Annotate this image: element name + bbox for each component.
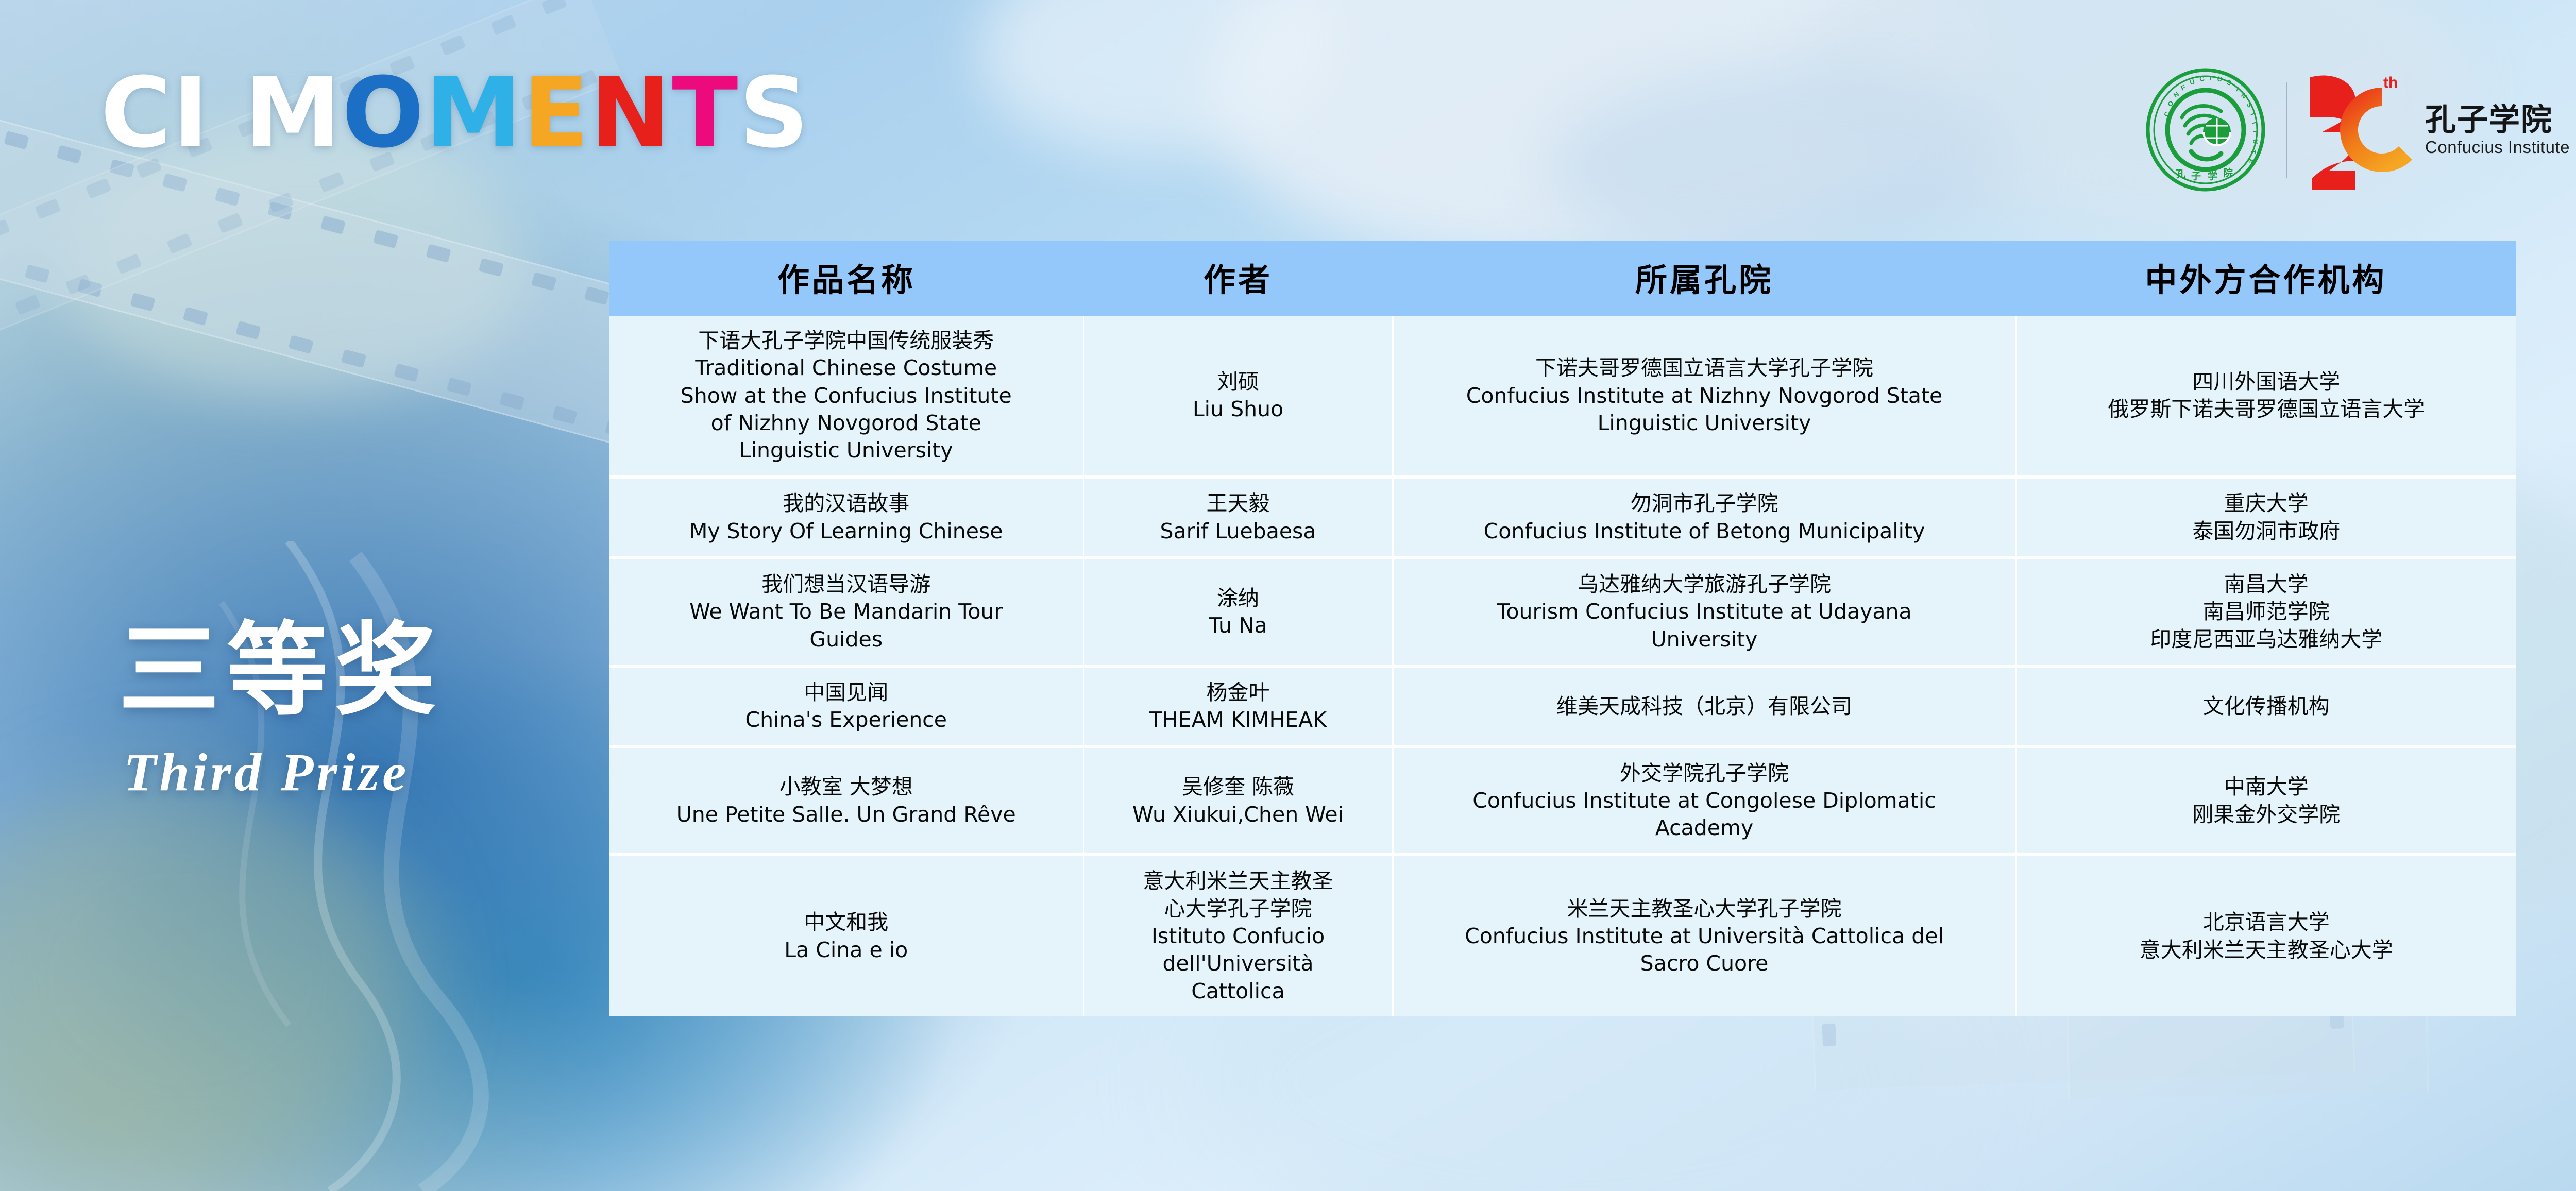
cell-line: 北京语言大学 bbox=[2029, 909, 2504, 936]
cell-work-title: 中国见闻China's Experience bbox=[609, 666, 1083, 747]
cell-partners: 四川外国语大学俄罗斯下诺夫哥罗德国立语言大学 bbox=[2016, 316, 2516, 477]
cloud-shape bbox=[979, 0, 1340, 155]
cell-author: 涂纳Tu Na bbox=[1083, 558, 1393, 666]
svg-text:T: T bbox=[2251, 129, 2260, 134]
slide-canvas: CI MOMENTS 三等奖 Third Prize C O N F U bbox=[0, 0, 2576, 1191]
cell-institute: 外交学院孔子学院Confucius Institute at Congolese… bbox=[1393, 747, 2016, 855]
cell-work-title: 我们想当汉语导游We Want To Be Mandarin TourGuide… bbox=[609, 558, 1083, 666]
cloud-shape bbox=[1211, 0, 1984, 258]
table-header-row: 作品名称 作者 所属孔院 中外方合作机构 bbox=[609, 241, 2516, 316]
cell-work-title: 我的汉语故事My Story Of Learning Chinese bbox=[609, 477, 1083, 558]
cell-line: 外交学院孔子学院 bbox=[1406, 760, 2003, 787]
cell-partners: 南昌大学南昌师范学院印度尼西亚乌达雅纳大学 bbox=[2016, 558, 2516, 666]
svg-text:F: F bbox=[2179, 83, 2187, 92]
cell-institute: 下诺夫哥罗德国立语言大学孔子学院Confucius Institute at N… bbox=[1393, 316, 2016, 477]
table-header: 作品名称 作者 所属孔院 中外方合作机构 bbox=[609, 241, 2516, 316]
prize-label: 三等奖 Third Prize bbox=[118, 618, 443, 803]
svg-text:E: E bbox=[2246, 158, 2255, 165]
cell-line: 吴修奎 陈薇 bbox=[1097, 773, 1380, 801]
table-row: 中国见闻China's Experience杨金叶THEAM KIMHEAK维美… bbox=[609, 666, 2516, 747]
svg-text:U: U bbox=[2251, 139, 2259, 144]
cell-line: dell'Università bbox=[1097, 950, 1380, 977]
cell-line: We Want To Be Mandarin Tour bbox=[622, 598, 1071, 625]
cell-line: 文化传播机构 bbox=[2029, 693, 2504, 720]
svg-text:N: N bbox=[2172, 90, 2181, 99]
cell-author: 吴修奎 陈薇Wu Xiukui,Chen Wei bbox=[1083, 747, 1393, 855]
cell-author: 刘硕Liu Shuo bbox=[1083, 316, 1393, 477]
cell-line: Wu Xiukui,Chen Wei bbox=[1097, 801, 1380, 828]
cell-author: 杨金叶THEAM KIMHEAK bbox=[1083, 666, 1393, 747]
title-letter-8: T bbox=[672, 65, 739, 162]
cell-line: Liu Shuo bbox=[1097, 396, 1380, 423]
cell-line: University bbox=[1406, 626, 2003, 653]
film-strip-decoration bbox=[0, 0, 623, 368]
cell-line: Confucius Institute at Congolese Diploma… bbox=[1406, 787, 2003, 814]
title-letter-9: S bbox=[739, 65, 809, 162]
cell-line: 刚果金外交学院 bbox=[2029, 801, 2504, 828]
cell-author: 意大利米兰天主教圣心大学孔子学院Istituto Confuciodell'Un… bbox=[1083, 855, 1393, 1016]
cell-line: 南昌师范学院 bbox=[2029, 598, 2504, 625]
table-row: 我们想当汉语导游We Want To Be Mandarin TourGuide… bbox=[609, 558, 2516, 666]
cell-partners: 北京语言大学意大利米兰天主教圣心大学 bbox=[2016, 855, 2516, 1016]
prize-label-cn: 三等奖 bbox=[118, 618, 443, 724]
table-row: 中文和我La Cina e io意大利米兰天主教圣心大学孔子学院Istituto… bbox=[609, 855, 2516, 1016]
cell-line: 下诺夫哥罗德国立语言大学孔子学院 bbox=[1406, 354, 2003, 382]
cell-line: 米兰天主教圣心大学孔子学院 bbox=[1406, 895, 2003, 923]
title-letter-3: M bbox=[244, 65, 342, 162]
cell-line: Linguistic University bbox=[622, 437, 1071, 464]
svg-text:S: S bbox=[2226, 78, 2233, 87]
cell-institute: 勿洞市孔子学院Confucius Institute of Betong Mun… bbox=[1393, 477, 2016, 558]
cell-line: 乌达雅纳大学旅游孔子学院 bbox=[1406, 571, 2003, 598]
title-letter-6: E bbox=[522, 65, 589, 162]
svg-text:孔: 孔 bbox=[2176, 168, 2185, 180]
cell-line: 中国见闻 bbox=[622, 679, 1071, 706]
cell-line: La Cina e io bbox=[622, 937, 1071, 964]
column-header-work-title: 作品名称 bbox=[609, 241, 1083, 316]
cell-line: Guides bbox=[622, 626, 1071, 653]
cell-line: Linguistic University bbox=[1406, 410, 2003, 437]
svg-text:学: 学 bbox=[2208, 170, 2217, 182]
cell-institute: 维美天成科技（北京）有限公司 bbox=[1393, 666, 2016, 747]
cell-line: Academy bbox=[1406, 814, 2003, 842]
cell-line: 勿洞市孔子学院 bbox=[1406, 490, 2003, 517]
cell-work-title: 小教室 大梦想Une Petite Salle. Un Grand Rêve bbox=[609, 747, 1083, 855]
cell-line: Sarif Luebaesa bbox=[1097, 518, 1380, 545]
cell-work-title: 下语大孔子学院中国传统服装秀Traditional Chinese Costum… bbox=[609, 316, 1083, 477]
cell-line: 我们想当汉语导游 bbox=[622, 571, 1071, 598]
cell-line: 俄罗斯下诺夫哥罗德国立语言大学 bbox=[2029, 396, 2504, 423]
cell-line: 中南大学 bbox=[2029, 773, 2504, 801]
cell-line: Istituto Confucio bbox=[1097, 923, 1380, 950]
svg-text:I: I bbox=[2210, 74, 2212, 82]
cell-line: 涂纳 bbox=[1097, 585, 1380, 612]
cell-line: Une Petite Salle. Un Grand Rêve bbox=[622, 801, 1071, 828]
svg-text:U: U bbox=[2216, 75, 2223, 83]
cell-line: 我的汉语故事 bbox=[622, 490, 1071, 517]
anniversary-logo-cn: 孔子学院 bbox=[2425, 105, 2570, 135]
cell-line: Cattolica bbox=[1097, 978, 1380, 1005]
twentieth-anniversary-icon: th bbox=[2306, 70, 2417, 190]
cell-author: 王天毅Sarif Luebaesa bbox=[1083, 477, 1393, 558]
svg-text:th: th bbox=[2383, 74, 2398, 91]
cell-line: Confucius Institute at Nizhny Novgorod S… bbox=[1406, 382, 2003, 410]
cell-line: 意大利米兰天主教圣 bbox=[1097, 867, 1380, 895]
title-letter-1: I bbox=[173, 65, 210, 162]
cell-line: Tu Na bbox=[1097, 612, 1380, 639]
cell-partners: 重庆大学泰国勿洞市政府 bbox=[2016, 477, 2516, 558]
svg-text:子: 子 bbox=[2191, 171, 2201, 182]
slide-title: CI MOMENTS bbox=[100, 65, 810, 162]
cell-line: Show at the Confucius Institute bbox=[622, 382, 1071, 410]
title-letter-4: O bbox=[342, 65, 425, 162]
results-table-container: 作品名称 作者 所属孔院 中外方合作机构 下语大孔子学院中国传统服装秀Tradi… bbox=[609, 241, 2516, 1016]
title-letter-0: C bbox=[100, 65, 173, 162]
prize-label-en: Third Prize bbox=[124, 742, 443, 803]
cell-line: 心大学孔子学院 bbox=[1097, 895, 1380, 923]
cell-line: 印度尼西亚乌达雅纳大学 bbox=[2029, 626, 2504, 653]
cell-institute: 米兰天主教圣心大学孔子学院Confucius Institute at Univ… bbox=[1393, 855, 2016, 1016]
cell-work-title: 中文和我La Cina e io bbox=[609, 855, 1083, 1016]
anniversary-logo: th 孔子学院 Confucius Institute bbox=[2306, 70, 2570, 190]
cell-line: Tourism Confucius Institute at Udayana bbox=[1406, 598, 2003, 625]
cell-partners: 中南大学刚果金外交学院 bbox=[2016, 747, 2516, 855]
cell-line: 小教室 大梦想 bbox=[622, 773, 1071, 801]
svg-text:U: U bbox=[2189, 78, 2196, 87]
cell-line: 重庆大学 bbox=[2029, 490, 2504, 517]
cell-line: THEAM KIMHEAK bbox=[1097, 706, 1380, 734]
cell-partners: 文化传播机构 bbox=[2016, 666, 2516, 747]
table-row: 小教室 大梦想Une Petite Salle. Un Grand Rêve吴修… bbox=[609, 747, 2516, 855]
cloud-shape bbox=[1546, 62, 2009, 258]
table-row: 我的汉语故事My Story Of Learning Chinese王天毅Sar… bbox=[609, 477, 2516, 558]
cell-line: 刘硕 bbox=[1097, 368, 1380, 396]
cell-institute: 乌达雅纳大学旅游孔子学院Tourism Confucius Institute … bbox=[1393, 558, 2016, 666]
cell-line: 中文和我 bbox=[622, 909, 1071, 936]
title-letter-5: M bbox=[425, 65, 522, 162]
logo-divider bbox=[2286, 82, 2287, 178]
cell-line: 维美天成科技（北京）有限公司 bbox=[1406, 693, 2003, 720]
svg-text:T: T bbox=[2249, 149, 2258, 154]
anniversary-logo-en: Confucius Institute bbox=[2425, 139, 2570, 156]
column-header-partners: 中外方合作机构 bbox=[2016, 241, 2516, 316]
cell-line: Confucius Institute of Betong Municipali… bbox=[1406, 518, 2003, 545]
table-row: 下语大孔子学院中国传统服装秀Traditional Chinese Costum… bbox=[609, 316, 2516, 477]
cell-line: 杨金叶 bbox=[1097, 679, 1380, 706]
cell-line: of Nizhny Novgorod State bbox=[622, 410, 1071, 437]
table-body: 下语大孔子学院中国传统服装秀Traditional Chinese Costum… bbox=[609, 316, 2516, 1016]
background-glow bbox=[0, 773, 412, 1185]
cell-line: China's Experience bbox=[622, 706, 1071, 734]
confucius-institute-seal-icon: C O N F U C I U S I N S T I T U T E 孔子学院 bbox=[2144, 68, 2267, 192]
cell-line: 王天毅 bbox=[1097, 490, 1380, 517]
column-header-author: 作者 bbox=[1083, 241, 1393, 316]
cell-line: 泰国勿洞市政府 bbox=[2029, 518, 2504, 545]
title-letter-2 bbox=[210, 65, 244, 162]
cell-line: 四川外国语大学 bbox=[2029, 368, 2504, 396]
logo-group: C O N F U C I U S I N S T I T U T E 孔子学院 bbox=[2144, 68, 2570, 192]
title-letter-7: N bbox=[590, 65, 672, 162]
cell-line: My Story Of Learning Chinese bbox=[622, 518, 1071, 545]
cell-line: 南昌大学 bbox=[2029, 571, 2504, 598]
cell-line: Confucius Institute at Università Cattol… bbox=[1406, 923, 2003, 950]
column-header-institute: 所属孔院 bbox=[1393, 241, 2016, 316]
cell-line: 意大利米兰天主教圣心大学 bbox=[2029, 937, 2504, 964]
cell-line: Traditional Chinese Costume bbox=[622, 354, 1071, 382]
svg-text:院: 院 bbox=[2223, 167, 2233, 179]
cell-line: 下语大孔子学院中国传统服装秀 bbox=[622, 327, 1071, 354]
cell-line: Sacro Cuore bbox=[1406, 950, 2003, 977]
results-table: 作品名称 作者 所属孔院 中外方合作机构 下语大孔子学院中国传统服装秀Tradi… bbox=[609, 241, 2516, 1016]
